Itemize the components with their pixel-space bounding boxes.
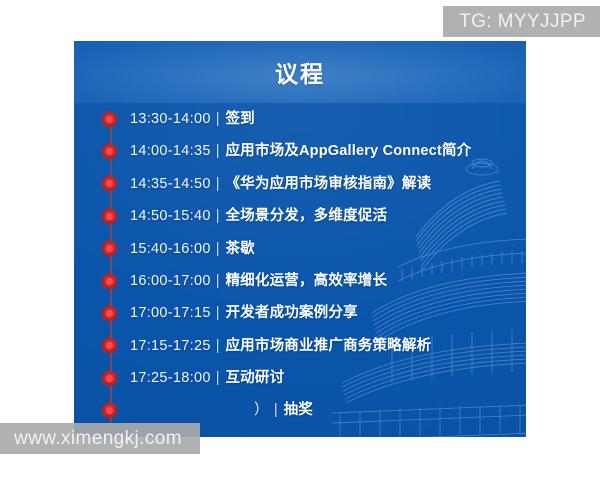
agenda-row: 17:00-17:15|开发者成功案例分享 [74, 297, 526, 329]
agenda-row-text: 14:35-14:50|《华为应用市场审核指南》解读 [130, 177, 518, 192]
watermark-website: www.ximengkj.com [0, 423, 200, 454]
agenda-separator: | [269, 402, 284, 418]
agenda-topic: 互动研讨 [225, 370, 284, 386]
agenda-time: 14:50-15:40 [130, 208, 211, 224]
agenda-topic: 全场景分发，多维度促活 [225, 208, 387, 224]
agenda-row: 14:35-14:50|《华为应用市场审核指南》解读 [74, 168, 526, 200]
agenda-time: 17:00-17:15 [130, 305, 211, 321]
agenda-row-text: 17:00-17:15|开发者成功案例分享 [130, 306, 518, 321]
agenda-row-text: 14:50-15:40|全场景分发，多维度促活 [130, 209, 518, 224]
agenda-topic: 应用市场及AppGallery Connect简介 [225, 143, 471, 159]
agenda-topic: 精细化运营，高效率增长 [225, 273, 387, 289]
agenda-time: 14:00-14:35 [130, 143, 211, 159]
agenda-separator: | [211, 111, 226, 127]
timeline-dot-icon [102, 112, 117, 127]
agenda-row: 14:00-14:35|应用市场及AppGallery Connect简介 [74, 135, 526, 167]
agenda-row: 15:40-16:00|茶歇 [74, 233, 526, 265]
timeline-dot-icon [102, 209, 117, 224]
timeline-dot-icon [102, 403, 117, 418]
agenda-separator: | [211, 176, 226, 192]
agenda-time: ） [254, 402, 269, 418]
agenda-row: 17:15-17:25|应用市场商业推广商务策略解析 [74, 330, 526, 362]
agenda-separator: | [211, 241, 226, 257]
agenda-separator: | [211, 143, 226, 159]
agenda-row-text: ）|抽奖 [130, 403, 518, 418]
agenda-row-text: 14:00-14:35|应用市场及AppGallery Connect简介 [130, 144, 518, 159]
timeline-dot-icon [102, 144, 117, 159]
agenda-header-band: 议程 [74, 41, 526, 103]
agenda-separator: | [211, 305, 226, 321]
agenda-separator: | [211, 208, 226, 224]
agenda-topic: 开发者成功案例分享 [225, 305, 357, 321]
agenda-topic: 签到 [225, 111, 254, 127]
watermark-telegram: TG: MYYJJPP [443, 6, 600, 37]
agenda-time: 17:15-17:25 [130, 338, 211, 354]
agenda-separator: | [211, 370, 226, 386]
agenda-separator: | [211, 338, 226, 354]
agenda-time: 16:00-17:00 [130, 273, 211, 289]
agenda-row-text: 17:25-18:00|互动研讨 [130, 371, 518, 386]
agenda-topic: 抽奖 [284, 402, 313, 418]
agenda-time: 15:40-16:00 [130, 241, 211, 257]
agenda-row: 13:30-14:00|签到 [74, 103, 526, 135]
agenda-row-text: 17:15-17:25|应用市场商业推广商务策略解析 [130, 339, 518, 354]
timeline-dot-icon [102, 338, 117, 353]
agenda-topic: 《华为应用市场审核指南》解读 [225, 176, 431, 192]
agenda-row-text: 15:40-16:00|茶歇 [130, 242, 518, 257]
agenda-time: 17:25-18:00 [130, 370, 211, 386]
agenda-panel: 议程 13:30-14:00|签到 14:00-14:35|应用市场及AppGa… [74, 41, 526, 437]
agenda-topic: 茶歇 [225, 241, 254, 257]
page-title: 议程 [74, 55, 526, 89]
agenda-row: 16:00-17:00|精细化运营，高效率增长 [74, 265, 526, 297]
screenshot-canvas: 议程 13:30-14:00|签到 14:00-14:35|应用市场及AppGa… [0, 0, 600, 480]
timeline-dot-icon [102, 371, 117, 386]
agenda-row-text: 13:30-14:00|签到 [130, 112, 518, 127]
agenda-time: 13:30-14:00 [130, 111, 211, 127]
timeline-dot-icon [102, 241, 117, 256]
agenda-row-text: 16:00-17:00|精细化运营，高效率增长 [130, 274, 518, 289]
timeline-dot-icon [102, 176, 117, 191]
agenda-topic: 应用市场商业推广商务策略解析 [225, 338, 431, 354]
agenda-separator: | [211, 273, 226, 289]
agenda-row: 14:50-15:40|全场景分发，多维度促活 [74, 200, 526, 232]
agenda-time: 14:35-14:50 [130, 176, 211, 192]
timeline-dot-icon [102, 274, 117, 289]
agenda-list: 13:30-14:00|签到 14:00-14:35|应用市场及AppGalle… [74, 103, 526, 427]
agenda-row: 17:25-18:00|互动研讨 [74, 362, 526, 394]
timeline-dot-icon [102, 306, 117, 321]
